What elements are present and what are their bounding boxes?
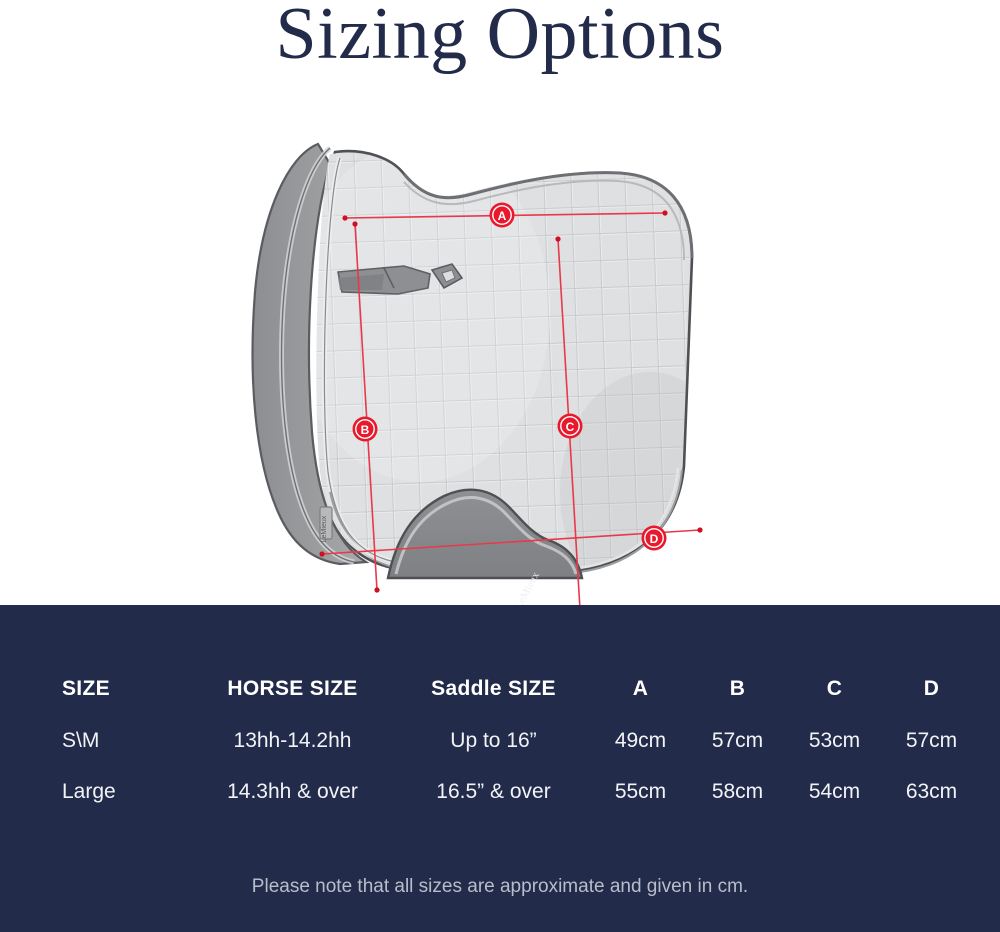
header-saddle-size: Saddle SIZE (395, 663, 592, 715)
saddle-pad-illustration: LeMieux LeMieux LeMieux (0, 92, 1000, 605)
side-label-tag: LeMieux (320, 507, 332, 542)
cell-saddle-size: 16.5” & over (395, 766, 592, 817)
cell-c: 53cm (786, 715, 883, 766)
marker-c[interactable]: C (558, 414, 583, 439)
cell-d: 63cm (883, 766, 980, 817)
size-table-body: S\M 13hh-14.2hh Up to 16” 49cm 57cm 53cm… (62, 715, 980, 817)
table-row: Large 14.3hh & over 16.5” & over 55cm 58… (62, 766, 980, 817)
marker-a[interactable]: A (490, 203, 515, 228)
cell-size: Large (62, 766, 190, 817)
cell-b: 57cm (689, 715, 786, 766)
cell-d: 57cm (883, 715, 980, 766)
size-info-panel: SIZE HORSE SIZE Saddle SIZE A B C D S\M … (0, 605, 1000, 932)
header-d: D (883, 663, 980, 715)
header-horse-size: HORSE SIZE (190, 663, 395, 715)
header-b: B (689, 663, 786, 715)
cell-horse-size: 14.3hh & over (190, 766, 395, 817)
cell-size: S\M (62, 715, 190, 766)
marker-d[interactable]: D (642, 526, 667, 551)
cell-c: 54cm (786, 766, 883, 817)
title-area: Sizing Options (0, 0, 1000, 92)
marker-d-label: D (650, 532, 659, 546)
sizing-note: Please note that all sizes are approxima… (0, 876, 1000, 898)
table-header-row: SIZE HORSE SIZE Saddle SIZE A B C D (62, 663, 980, 715)
table-row: S\M 13hh-14.2hh Up to 16” 49cm 57cm 53cm… (62, 715, 980, 766)
side-label-text: LeMieux (321, 515, 328, 542)
marker-a-label: A (498, 209, 507, 223)
header-size: SIZE (62, 663, 190, 715)
saddle-pad-diagram: LeMieux LeMieux LeMieux (0, 92, 1000, 605)
size-table: SIZE HORSE SIZE Saddle SIZE A B C D S\M … (62, 663, 980, 817)
girth-strap-loop (338, 266, 430, 294)
marker-b[interactable]: B (353, 417, 378, 442)
page-title: Sizing Options (0, 0, 1000, 77)
cell-a: 49cm (592, 715, 689, 766)
cell-saddle-size: Up to 16” (395, 715, 592, 766)
header-a: A (592, 663, 689, 715)
cell-a: 55cm (592, 766, 689, 817)
marker-b-label: B (361, 423, 370, 437)
cell-horse-size: 13hh-14.2hh (190, 715, 395, 766)
sizing-options-page: Sizing Options (0, 0, 1000, 932)
marker-c-label: C (566, 420, 575, 434)
header-c: C (786, 663, 883, 715)
size-table-head: SIZE HORSE SIZE Saddle SIZE A B C D (62, 663, 980, 715)
cell-b: 58cm (689, 766, 786, 817)
